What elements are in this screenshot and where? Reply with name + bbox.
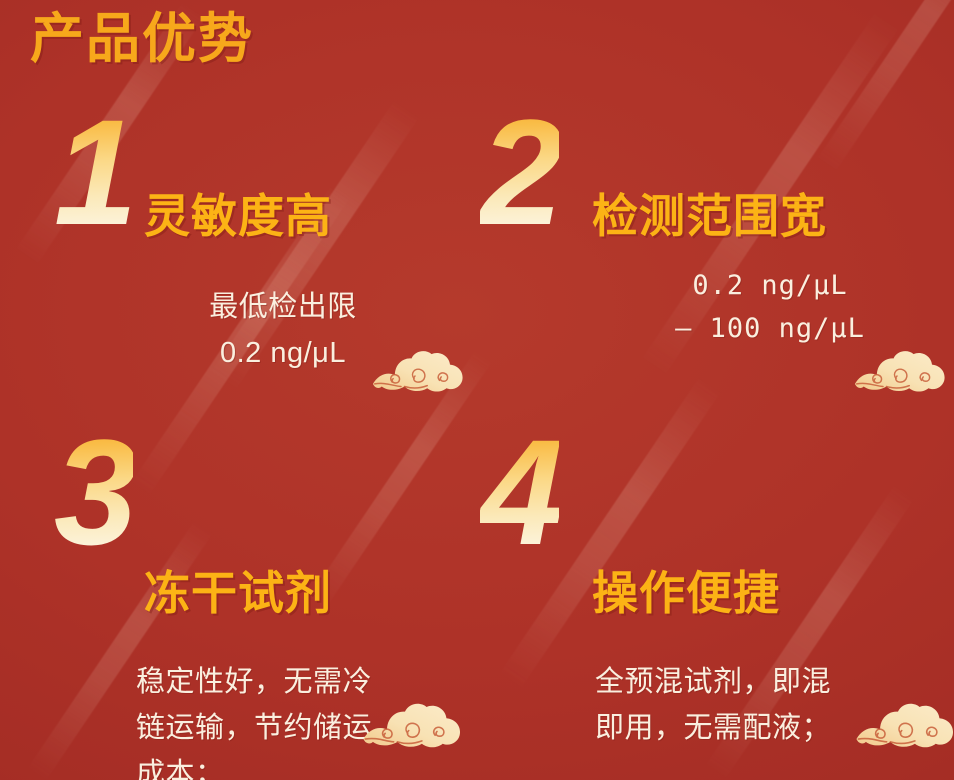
advantages-grid: 1 灵敏度高 最低检出限 0.2 ng/μL 2 检测范围宽 0.2 ng/μL…: [0, 105, 954, 780]
advantage-item-2: 2 检测范围宽 0.2 ng/μL – 100 ng/μL: [470, 105, 940, 405]
page-title: 产品优势: [30, 8, 254, 70]
description-line: 链运输，节约储运: [136, 706, 451, 752]
advantage-heading: 操作便捷: [592, 570, 780, 616]
description-line: 即用，无需配液；: [595, 706, 905, 752]
advantage-number: 2: [480, 97, 559, 247]
advantage-description: 稳定性好，无需冷 链运输，节约储运 成本；: [136, 660, 451, 780]
advantage-description: 0.2 ng/μL – 100 ng/μL: [620, 265, 920, 350]
description-line: 最低检出限: [133, 285, 433, 331]
description-line: 0.2 ng/μL: [133, 331, 433, 377]
product-advantages-poster: 产品优势 1 灵敏度高 最低检出限 0.2 ng/μL 2 检测范围宽 0.2 …: [0, 0, 954, 780]
advantage-heading: 冻干试剂: [144, 570, 332, 616]
advantage-heading: 检测范围宽: [592, 193, 827, 239]
advantage-item-1: 1 灵敏度高 最低检出限 0.2 ng/μL: [38, 105, 478, 405]
description-line: 全预混试剂，即混: [595, 660, 905, 706]
description-line: – 100 ng/μL: [620, 308, 920, 351]
description-line: 成本；: [136, 752, 451, 780]
advantage-heading: 灵敏度高: [144, 193, 332, 239]
advantage-description: 全预混试剂，即混 即用，无需配液；: [595, 660, 905, 752]
advantage-number: 4: [480, 417, 559, 567]
advantage-item-3: 3 冻干试剂 稳定性好，无需冷 链运输，节约储运 成本；: [38, 405, 478, 735]
advantage-number: 3: [54, 417, 133, 567]
advantage-item-4: 4 操作便捷 全预混试剂，即混 即用，无需配液；: [470, 405, 940, 735]
advantage-description: 最低检出限 0.2 ng/μL: [133, 285, 433, 377]
advantage-number: 1: [54, 97, 133, 247]
description-line: 稳定性好，无需冷: [136, 660, 451, 706]
description-line: 0.2 ng/μL: [620, 265, 920, 308]
